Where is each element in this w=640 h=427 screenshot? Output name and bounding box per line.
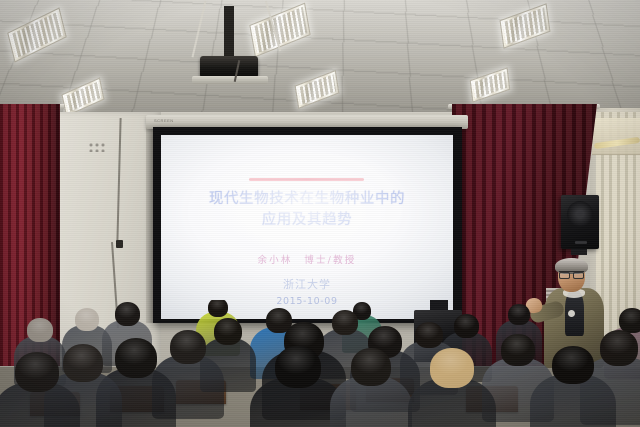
blind-valance — [592, 118, 640, 155]
attendee-head — [275, 346, 321, 388]
wall-speaker — [561, 195, 599, 249]
slide-organization: 浙江大学 — [161, 276, 453, 292]
wall-speaker-bracket — [571, 249, 587, 255]
glasses-icon — [559, 271, 584, 277]
projector-mount-pole — [224, 6, 234, 60]
attendee-head — [508, 304, 530, 325]
attendee-head — [75, 308, 99, 331]
attendee-right-2 — [530, 346, 616, 427]
slide-presenter-name: 余小林 博士/教授 — [161, 252, 453, 266]
lecture-hall-photo: SCREEN 现代生物技术在生物种业中的 应用及其趋势 余小林 博士/教授 浙江… — [0, 0, 640, 427]
attendee-head — [430, 348, 474, 388]
ceiling-projector — [200, 56, 258, 78]
attendee-head — [27, 318, 53, 342]
audience-area — [0, 300, 640, 427]
projector-base-plate — [192, 76, 268, 84]
attendee-head — [351, 348, 391, 386]
projection-screen-surface: 现代生物技术在生物种业中的 应用及其趋势 余小林 博士/教授 浙江大学 2015… — [161, 135, 453, 319]
slide-title: 现代生物技术在生物种业中的 应用及其趋势 — [161, 189, 453, 231]
slide-title-line1: 现代生物技术在生物种业中的 — [161, 189, 453, 210]
attendee-head — [208, 300, 228, 317]
wall-socket[interactable] — [116, 240, 123, 248]
slide-title-line2: 应用及其趋势 — [161, 210, 453, 231]
attendee-head — [552, 346, 594, 384]
screen-case-label: SCREEN — [154, 118, 174, 123]
attendee-head — [15, 352, 59, 392]
slide-accent-rule — [249, 178, 364, 181]
attendee-blonde — [408, 348, 496, 427]
wall-scuff-mark — [88, 142, 106, 152]
attendee-back-left-1 — [0, 352, 80, 427]
attendee-head — [115, 302, 140, 326]
attendee-row3-1 — [330, 348, 412, 427]
